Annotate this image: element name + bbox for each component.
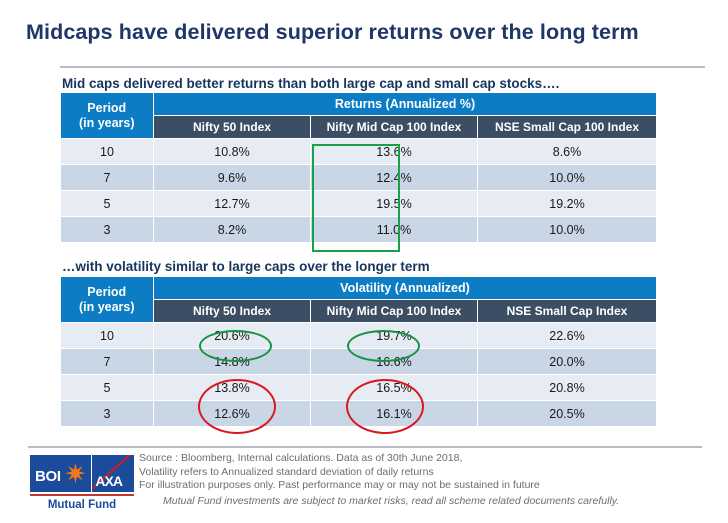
cell-period: 7 bbox=[61, 349, 154, 375]
cell-smallcap100: 19.2% bbox=[478, 191, 657, 217]
cell-smallcap100: 8.6% bbox=[478, 139, 657, 165]
cell-nifty50: 12.7% bbox=[154, 191, 311, 217]
period-header-cell: Period (in years) bbox=[61, 93, 154, 139]
table-row: 7 14.8% 16.6% 20.0% bbox=[61, 349, 657, 375]
volatility-group-header: Volatility (Annualized) bbox=[154, 277, 657, 300]
table-header-row: Period (in years) Volatility (Annualized… bbox=[61, 277, 657, 300]
cell-period: 7 bbox=[61, 165, 154, 191]
table-header-row: Period (in years) Returns (Annualized %) bbox=[61, 93, 657, 116]
logo-tagline: Mutual Fund bbox=[30, 499, 134, 511]
table-row: 5 13.8% 16.5% 20.8% bbox=[61, 375, 657, 401]
cell-midcap100: 19.5% bbox=[311, 191, 478, 217]
cell-smallcap: 22.6% bbox=[478, 323, 657, 349]
returns-group-header: Returns (Annualized %) bbox=[154, 93, 657, 116]
cell-period: 10 bbox=[61, 139, 154, 165]
col-header-smallcap100: NSE Small Cap 100 Index bbox=[478, 116, 657, 139]
period-header-cell: Period (in years) bbox=[61, 277, 154, 323]
cell-midcap100: 19.7% bbox=[311, 323, 478, 349]
logo-axa-block: AXA bbox=[92, 455, 134, 492]
period-header-line1: Period bbox=[61, 101, 154, 116]
table-row: 10 10.8% 13.6% 8.6% bbox=[61, 139, 657, 165]
cell-midcap100: 11.0% bbox=[311, 217, 478, 243]
title-divider bbox=[60, 66, 705, 68]
cell-midcap100: 16.1% bbox=[311, 401, 478, 427]
table-row: 3 12.6% 16.1% 20.5% bbox=[61, 401, 657, 427]
source-line: Source : Bloomberg, Internal calculation… bbox=[139, 452, 659, 466]
cell-nifty50: 10.8% bbox=[154, 139, 311, 165]
col-header-midcap100: Nifty Mid Cap 100 Index bbox=[311, 300, 478, 323]
cell-nifty50: 13.8% bbox=[154, 375, 311, 401]
cell-midcap100: 12.4% bbox=[311, 165, 478, 191]
returns-table: Period (in years) Returns (Annualized %)… bbox=[60, 92, 657, 243]
page-title: Midcaps have delivered superior returns … bbox=[26, 20, 706, 45]
cell-smallcap100: 10.0% bbox=[478, 165, 657, 191]
cell-period: 5 bbox=[61, 375, 154, 401]
cell-period: 3 bbox=[61, 401, 154, 427]
star-icon: ✷ bbox=[62, 461, 88, 487]
col-header-nifty50: Nifty 50 Index bbox=[154, 300, 311, 323]
cell-nifty50: 14.8% bbox=[154, 349, 311, 375]
risk-disclaimer: Mutual Fund investments are subject to m… bbox=[163, 495, 619, 507]
cell-midcap100: 16.6% bbox=[311, 349, 478, 375]
cell-midcap100: 13.6% bbox=[311, 139, 478, 165]
cell-period: 5 bbox=[61, 191, 154, 217]
boi-axa-logo: BOI ✷ AXA Mutual Fund bbox=[30, 455, 134, 511]
footer-divider bbox=[28, 446, 702, 448]
source-line: Volatility refers to Annualized standard… bbox=[139, 466, 659, 480]
cell-period: 3 bbox=[61, 217, 154, 243]
logo-boi-block: BOI ✷ bbox=[30, 455, 91, 492]
cell-smallcap: 20.0% bbox=[478, 349, 657, 375]
col-header-nifty50: Nifty 50 Index bbox=[154, 116, 311, 139]
logo-axa-text: AXA bbox=[95, 474, 122, 488]
cell-nifty50: 12.6% bbox=[154, 401, 311, 427]
volatility-table: Period (in years) Volatility (Annualized… bbox=[60, 276, 657, 427]
col-header-midcap100: Nifty Mid Cap 100 Index bbox=[311, 116, 478, 139]
period-header-line2: (in years) bbox=[61, 116, 154, 131]
logo-boi-text: BOI bbox=[30, 469, 61, 484]
logo-underline bbox=[30, 494, 134, 496]
logo-marks: BOI ✷ AXA bbox=[30, 455, 134, 492]
cell-midcap100: 16.5% bbox=[311, 375, 478, 401]
cell-nifty50: 20.6% bbox=[154, 323, 311, 349]
source-line: For illustration purposes only. Past per… bbox=[139, 479, 659, 493]
source-notes: Source : Bloomberg, Internal calculation… bbox=[139, 452, 659, 493]
table-row: 3 8.2% 11.0% 10.0% bbox=[61, 217, 657, 243]
cell-smallcap100: 10.0% bbox=[478, 217, 657, 243]
returns-section-caption: Mid caps delivered better returns than b… bbox=[62, 76, 559, 91]
col-header-smallcap: NSE Small Cap Index bbox=[478, 300, 657, 323]
table-row: 7 9.6% 12.4% 10.0% bbox=[61, 165, 657, 191]
cell-smallcap: 20.5% bbox=[478, 401, 657, 427]
table-row: 5 12.7% 19.5% 19.2% bbox=[61, 191, 657, 217]
cell-smallcap: 20.8% bbox=[478, 375, 657, 401]
cell-period: 10 bbox=[61, 323, 154, 349]
table-row: 10 20.6% 19.7% 22.6% bbox=[61, 323, 657, 349]
cell-nifty50: 9.6% bbox=[154, 165, 311, 191]
period-header-line2: (in years) bbox=[61, 300, 154, 315]
volatility-section-caption: …with volatility similar to large caps o… bbox=[62, 259, 430, 274]
cell-nifty50: 8.2% bbox=[154, 217, 311, 243]
period-header-line1: Period bbox=[61, 285, 154, 300]
